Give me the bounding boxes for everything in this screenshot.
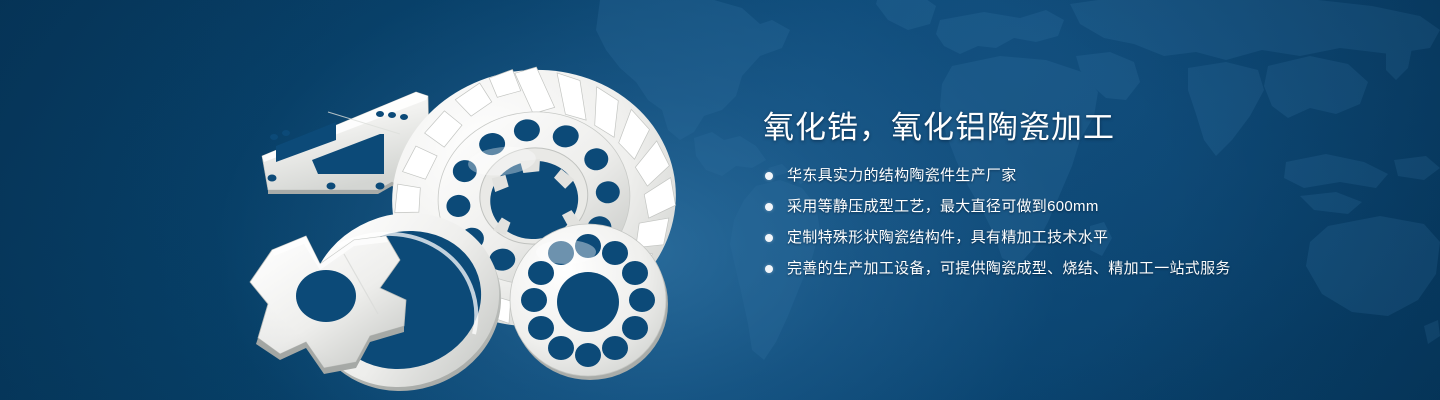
hero-banner: 氧化锆，氧化铝陶瓷加工 华东具实力的结构陶瓷件生产厂家 采用等静压成型工艺，最大… [0,0,1440,400]
product-photo-group [228,38,688,382]
bullet-dot-icon [765,265,773,273]
list-item: 定制特殊形状陶瓷结构件，具有精加工技术水平 [763,228,1383,248]
list-item: 完善的生产加工设备，可提供陶瓷成型、烧结、精加工一站式服务 [763,259,1383,279]
list-item-label: 采用等静压成型工艺，最大直径可做到600mm [787,197,1099,217]
page-title: 氧化锆，氧化铝陶瓷加工 [763,108,1383,148]
list-item-label: 完善的生产加工设备，可提供陶瓷成型、烧结、精加工一站式服务 [787,259,1231,279]
ceramic-perforated-disc-part [510,224,668,380]
bullet-dot-icon [765,203,773,211]
banner-copy: 氧化锆，氧化铝陶瓷加工 华东具实力的结构陶瓷件生产厂家 采用等静压成型工艺，最大… [763,108,1383,279]
list-item-label: 华东具实力的结构陶瓷件生产厂家 [787,166,1017,186]
bullet-dot-icon [765,172,773,180]
bullet-dot-icon [765,234,773,242]
list-item: 采用等静压成型工艺，最大直径可做到600mm [763,197,1383,217]
list-item-label: 定制特殊形状陶瓷结构件，具有精加工技术水平 [787,228,1108,248]
list-item: 华东具实力的结构陶瓷件生产厂家 [763,166,1383,186]
feature-list: 华东具实力的结构陶瓷件生产厂家 采用等静压成型工艺，最大直径可做到600mm 定… [763,166,1383,279]
